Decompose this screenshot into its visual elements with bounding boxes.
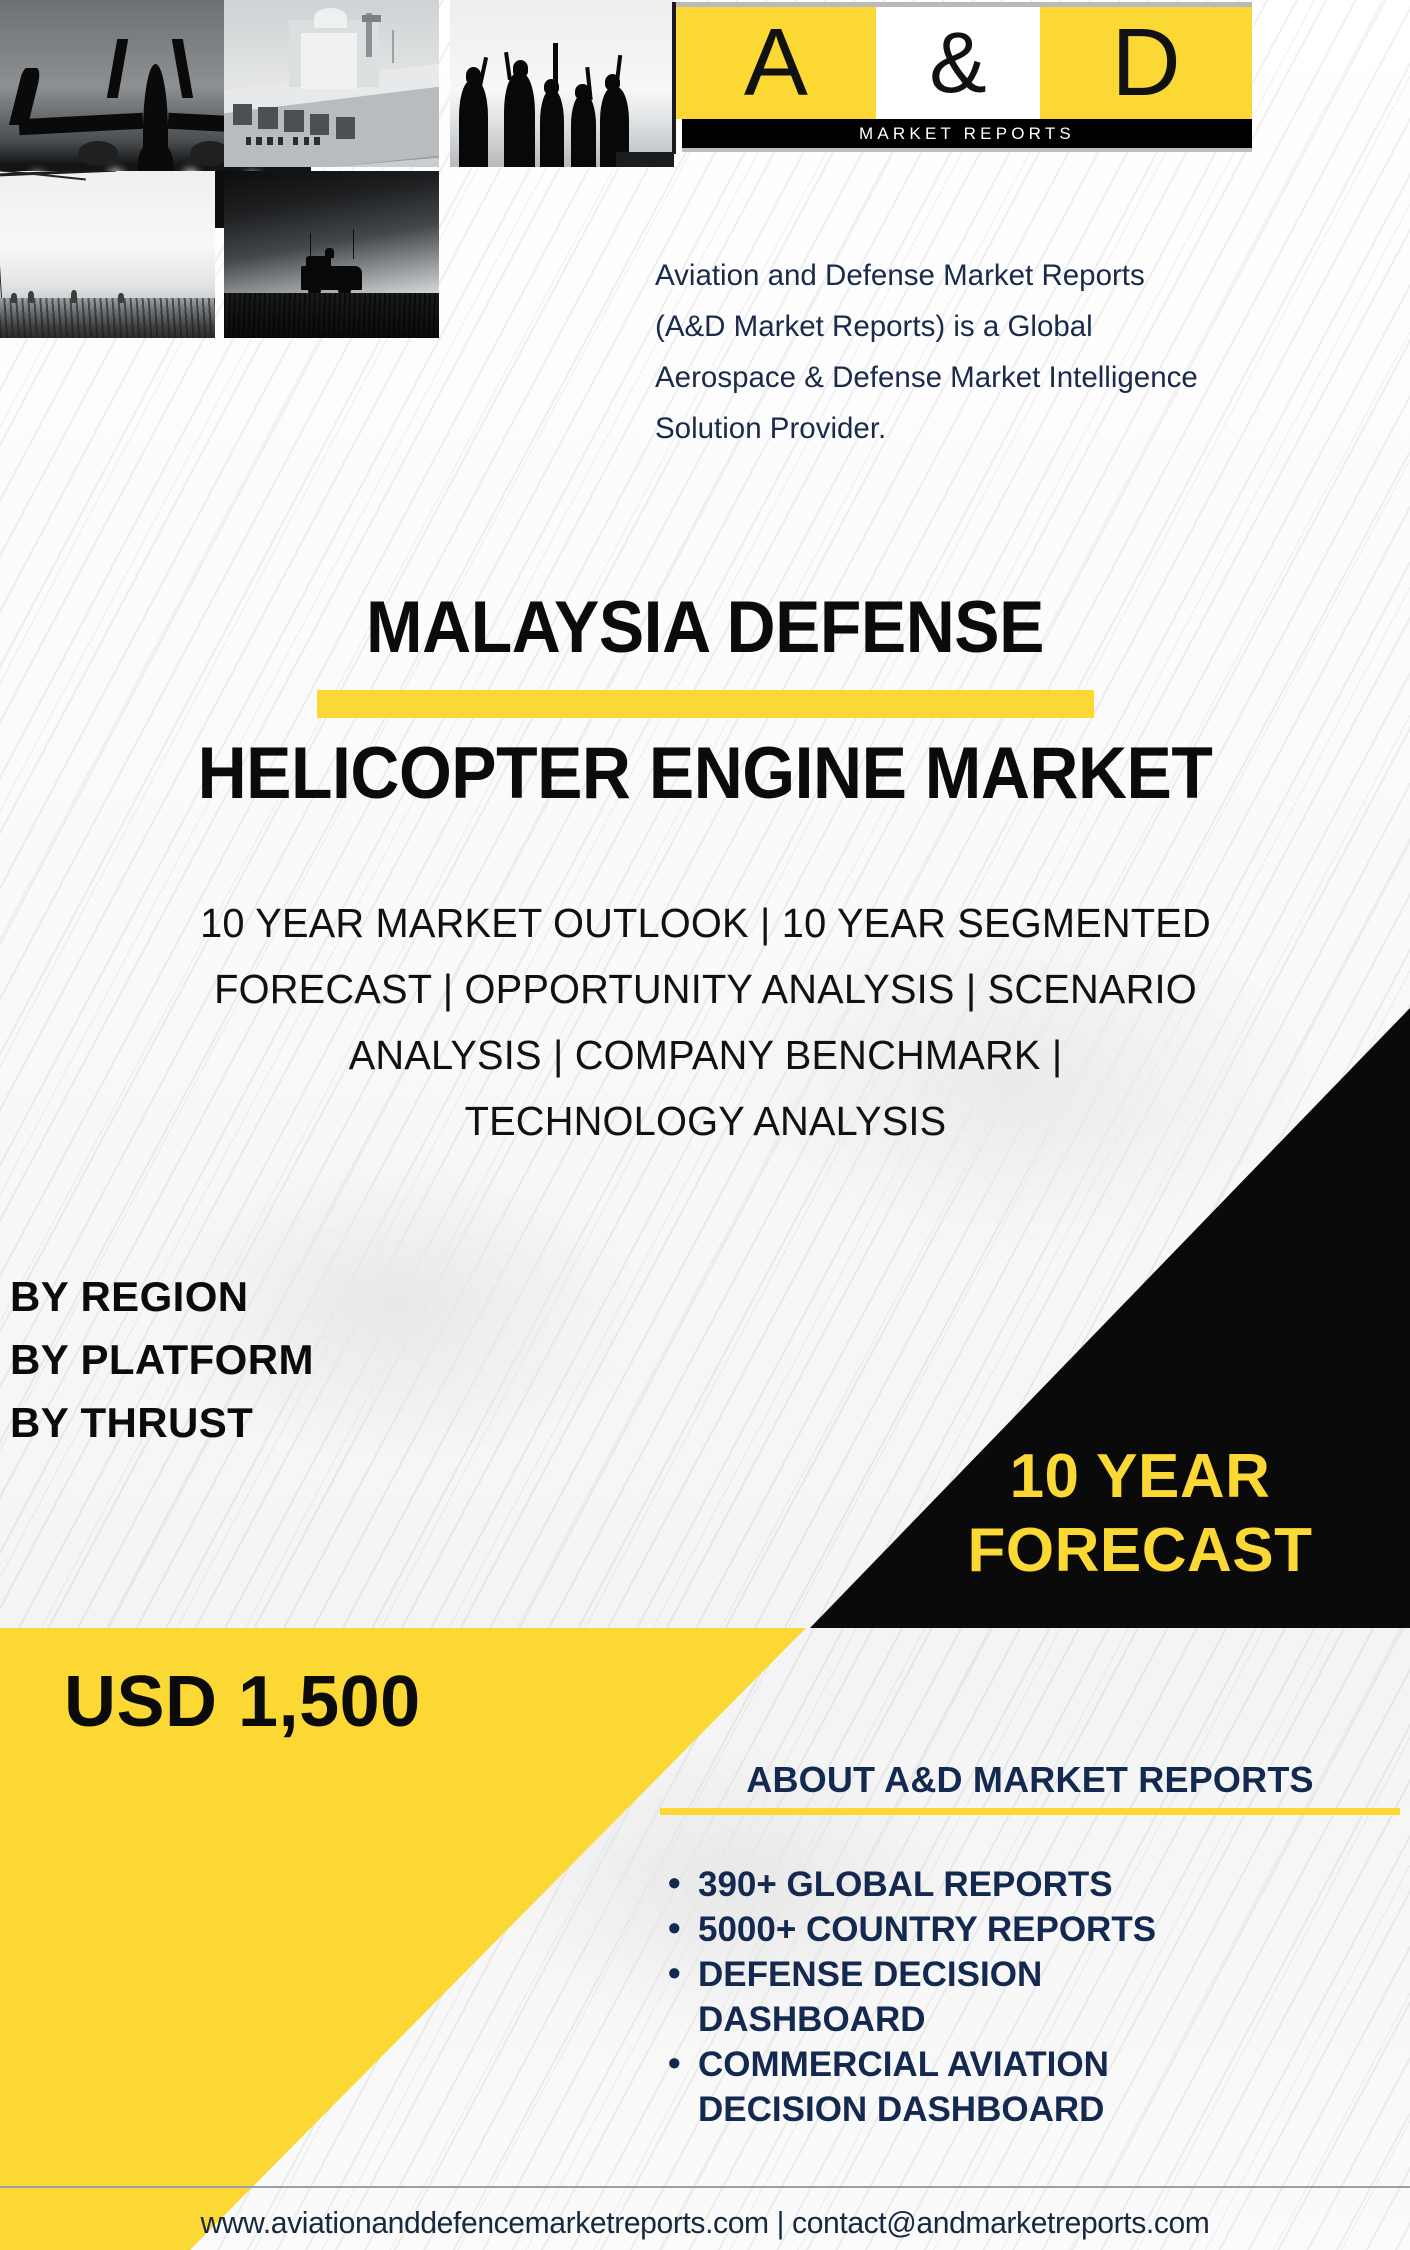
ad-market-reports-logo[interactable]: A & D MARKET REPORTS xyxy=(676,2,1252,150)
logo-letter-d: D xyxy=(1040,7,1252,119)
forecast-line-1: 10 YEAR xyxy=(880,1440,1400,1514)
logo-letter-row: A & D xyxy=(676,7,1252,119)
photo-armored-vehicle-at-dusk xyxy=(224,171,439,338)
about-bullet-defense-dashboard-cont: DASHBOARD xyxy=(660,1998,1400,2041)
subtitle-line-4: TECHNOLOGY ANALYSIS xyxy=(39,1088,1373,1154)
segmentation-list: BY REGION BY PLATFORM BY THRUST xyxy=(10,1265,314,1454)
about-yellow-rule xyxy=(660,1808,1400,1815)
report-subtitle: 10 YEAR MARKET OUTLOOK | 10 YEAR SEGMENT… xyxy=(39,890,1373,1154)
intro-line-4: Solution Provider. xyxy=(655,403,1399,454)
price-label: USD 1,500 xyxy=(64,1660,421,1744)
intro-line-1: Aviation and Defense Market Reports xyxy=(655,250,1399,301)
report-title: MALAYSIA DEFENSE HELICOPTER ENGINE MARKE… xyxy=(0,588,1410,814)
segment-by-thrust: BY THRUST xyxy=(10,1391,314,1454)
ten-year-forecast-badge: 10 YEAR FORECAST xyxy=(880,1440,1400,1588)
about-bullet-commercial-dashboard-cont: DECISION DASHBOARD xyxy=(660,2088,1400,2131)
logo-letter-a: A xyxy=(676,7,876,119)
about-bullet-global-reports: 390+ GLOBAL REPORTS xyxy=(660,1863,1400,1906)
intro-line-3: Aerospace & Defense Market Intelligence xyxy=(655,352,1399,403)
about-section-title: ABOUT A&D MARKET REPORTS xyxy=(660,1758,1400,1802)
about-bullet-commercial-dashboard: COMMERCIAL AVIATION xyxy=(660,2043,1400,2086)
logo-ampersand: & xyxy=(876,7,1040,119)
title-yellow-rule xyxy=(317,690,1094,718)
segment-by-platform: BY PLATFORM xyxy=(10,1328,314,1391)
about-bullet-defense-dashboard: DEFENSE DECISION xyxy=(660,1953,1400,1996)
photo-soldiers-silhouette xyxy=(450,0,674,167)
about-section: ABOUT A&D MARKET REPORTS 390+ GLOBAL REP… xyxy=(660,1758,1400,2133)
photo-aircraft-carrier-superstructure xyxy=(224,0,439,167)
subtitle-line-3: ANALYSIS | COMPANY BENCHMARK | xyxy=(39,1022,1373,1088)
report-title-line-1: MALAYSIA DEFENSE xyxy=(49,588,1360,668)
intro-line-2: (A&D Market Reports) is a Global xyxy=(655,301,1399,352)
segment-by-region: BY REGION xyxy=(10,1265,314,1328)
footer-contact[interactable]: www.aviationanddefencemarketreports.com … xyxy=(21,2196,1389,2250)
forecast-line-2: FORECAST xyxy=(880,1514,1400,1588)
company-intro-paragraph: Aviation and Defense Market Reports (A&D… xyxy=(655,250,1399,454)
subtitle-line-2: FORECAST | OPPORTUNITY ANALYSIS | SCENAR… xyxy=(39,956,1373,1022)
report-title-line-2: HELICOPTER ENGINE MARKET xyxy=(49,734,1360,814)
logo-tagline: MARKET REPORTS xyxy=(682,119,1252,149)
photo-military-helicopter-fast-rope xyxy=(0,171,215,338)
subtitle-line-1: 10 YEAR MARKET OUTLOOK | 10 YEAR SEGMENT… xyxy=(39,890,1373,956)
footer-divider xyxy=(0,2186,1410,2188)
about-bullet-country-reports: 5000+ COUNTRY REPORTS xyxy=(660,1908,1400,1951)
logo-drop-shadow xyxy=(682,148,1252,152)
about-bullet-list: 390+ GLOBAL REPORTS 5000+ COUNTRY REPORT… xyxy=(660,1863,1400,2131)
